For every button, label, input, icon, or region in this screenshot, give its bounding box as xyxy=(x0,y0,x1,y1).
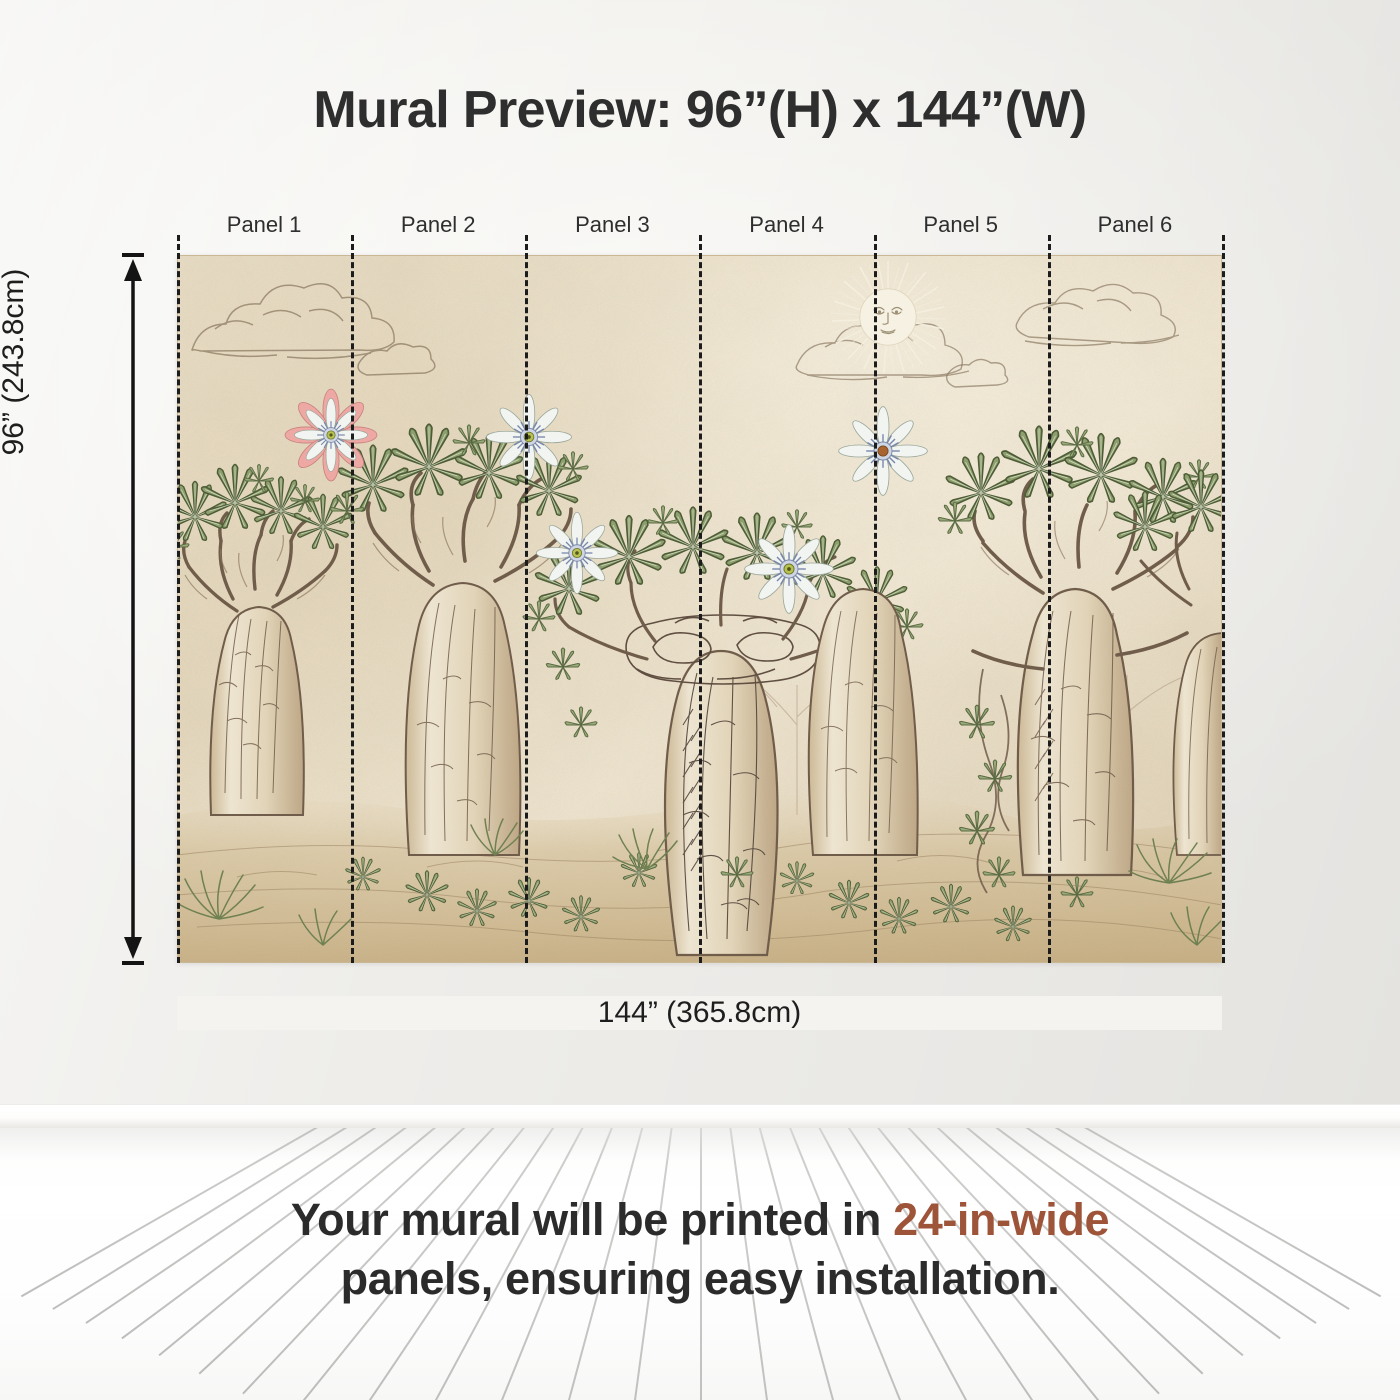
caption-line-2: panels, ensuring easy installation. xyxy=(0,1249,1400,1308)
panel-label-4: Panel 4 xyxy=(700,212,874,238)
height-dimension-label: 96” (243.8cm) xyxy=(0,152,31,572)
width-dimension-text: 144” (365.8cm) xyxy=(576,996,823,1029)
panel-divider-6 xyxy=(1222,235,1225,963)
caption-accent-panel-width: 24-in-wide xyxy=(893,1194,1109,1245)
baseboard xyxy=(0,1104,1400,1128)
panel-divider-5 xyxy=(1048,235,1051,963)
panel-label-1: Panel 1 xyxy=(177,212,351,238)
panel-label-3: Panel 3 xyxy=(525,212,699,238)
panel-label-5: Panel 5 xyxy=(874,212,1048,238)
page-title: Mural Preview: 96”(H) x 144”(W) xyxy=(0,80,1400,140)
caption-line-1: Your mural will be printed in 24-in-wide xyxy=(0,1190,1400,1249)
panel-divider-3 xyxy=(699,235,702,963)
mural-preview-area[interactable] xyxy=(177,255,1222,963)
height-dimension-line xyxy=(118,253,148,965)
panel-label-6: Panel 6 xyxy=(1048,212,1222,238)
width-dimension-label: 144” (365.8cm) xyxy=(177,996,1222,1030)
panel-divider-2 xyxy=(525,235,528,963)
panel-divider-1 xyxy=(351,235,354,963)
panel-label-2: Panel 2 xyxy=(351,212,525,238)
caption-block: Your mural will be printed in 24-in-wide… xyxy=(0,1190,1400,1309)
caption-line-1-before: Your mural will be printed in xyxy=(291,1194,893,1245)
panel-divider-0 xyxy=(177,235,180,963)
panel-divider-4 xyxy=(874,235,877,963)
